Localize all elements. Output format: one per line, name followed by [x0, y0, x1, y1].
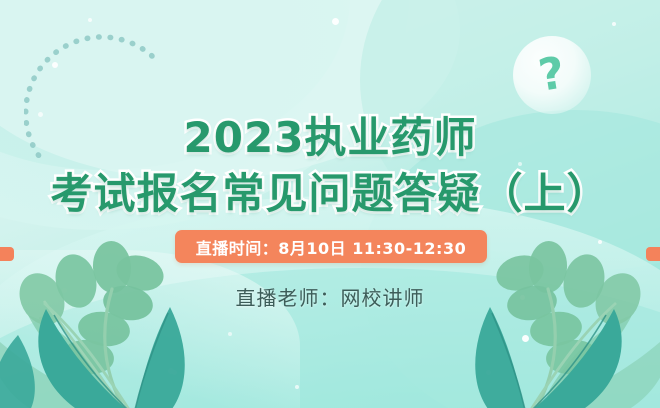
- instructor-label: 直播老师：网校讲师: [0, 282, 660, 311]
- live-time-label: 直播时间：8月10日 11:30-12:30: [196, 235, 466, 259]
- page-title-line2: 考试报名常见问题答疑（上）: [0, 160, 660, 221]
- live-course-promo-banner: ?: [0, 0, 660, 408]
- page-title-line1: 2023执业药师: [0, 104, 660, 165]
- live-time-badge: 直播时间：8月10日 11:30-12:30: [175, 230, 487, 263]
- banner-content: 2023执业药师 考试报名常见问题答疑（上） 直播时间：8月10日 11:30-…: [0, 0, 660, 408]
